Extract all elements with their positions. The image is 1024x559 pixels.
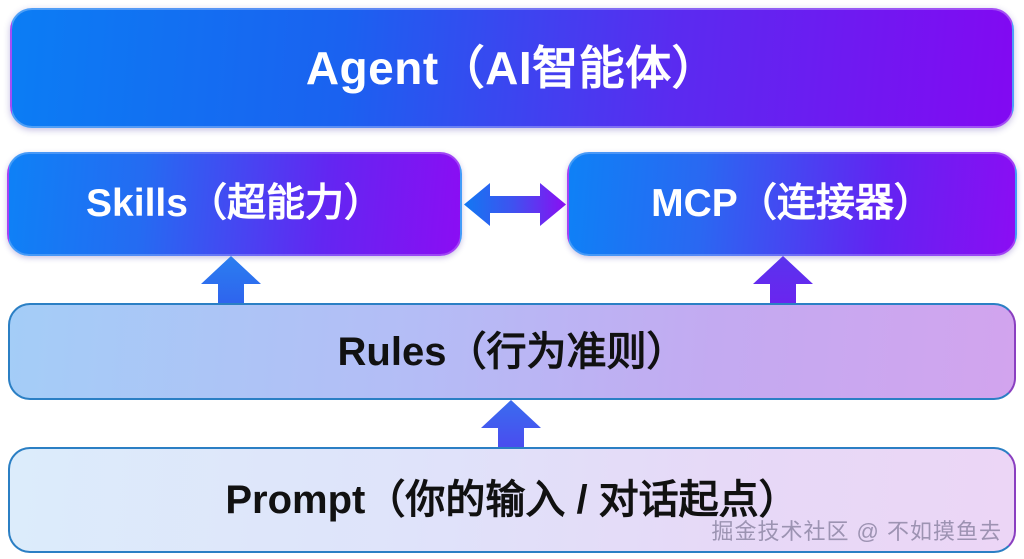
node-rules: Rules（行为准则） bbox=[8, 303, 1016, 400]
skills-mcp-link-arrow-icon bbox=[464, 180, 566, 229]
prompt-to-rules-arrow-icon bbox=[479, 400, 543, 448]
node-agent: Agent（AI智能体） bbox=[10, 8, 1014, 128]
node-mcp-label: MCP（连接器） bbox=[651, 183, 933, 226]
node-prompt-label: Prompt（你的输入 / 对话起点） bbox=[225, 478, 798, 522]
node-skills-label: Skills（超能力） bbox=[86, 183, 383, 226]
node-skills: Skills（超能力） bbox=[7, 152, 462, 256]
rules-to-skills-arrow-icon bbox=[199, 256, 263, 304]
node-agent-label: Agent（AI智能体） bbox=[306, 43, 718, 94]
agent-stack-diagram: Agent（AI智能体） Skills（超能力） MCP（连接器） bbox=[0, 0, 1024, 559]
node-rules-label: Rules（行为准则） bbox=[338, 330, 687, 374]
node-mcp: MCP（连接器） bbox=[567, 152, 1017, 256]
rules-to-mcp-arrow-icon bbox=[751, 256, 815, 304]
node-prompt: Prompt（你的输入 / 对话起点） bbox=[8, 447, 1016, 553]
